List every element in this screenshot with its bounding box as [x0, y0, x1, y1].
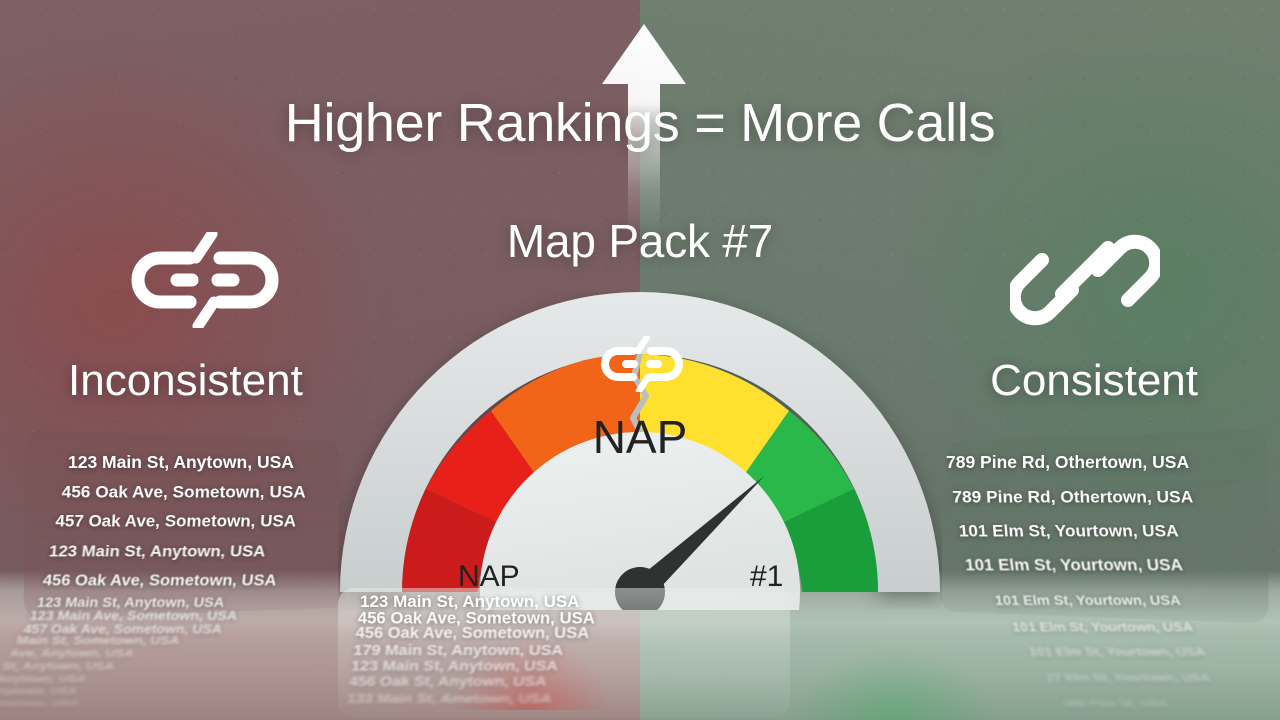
chain-link-icon	[1010, 232, 1160, 328]
address-line: 123 Main Ave, Sometown, USA	[29, 609, 238, 623]
address-line: 123 Main St, Anytown, USA	[68, 452, 294, 473]
address-line: Sometown, USA	[0, 698, 81, 708]
address-line: 457 Oak Ave, Sometown, USA	[55, 512, 297, 531]
infographic-canvas: Higher Rankings = More Calls Map Pack #7…	[0, 0, 1280, 720]
address-line: 133 Main St, Ametown, USA	[346, 692, 552, 707]
address-line: 789 Pine Rd, Othertown, USA	[946, 452, 1189, 473]
address-line: 101 Elm St, Yourtown, USA	[1011, 620, 1194, 634]
right-address-panel: 789 Pine Rd, Othertown, USA789 Pine Rd, …	[912, 428, 1272, 720]
address-line: 489 Pine St, USA	[1062, 698, 1169, 709]
address-line: 456 Oak Ave, Sometown, USA	[42, 572, 278, 590]
address-line: 456 Oak Ave, Sometown, USA	[355, 625, 589, 643]
left-state-label: Inconsistent	[68, 356, 303, 406]
address-line: 456 Oak St, Anytown, USA	[348, 675, 547, 690]
address-line: 456 Oak Ave, Sometown, USA	[61, 482, 306, 503]
address-line: 123 Main St, Anytown, USA	[48, 542, 266, 561]
gauge-broken-chain-icon	[600, 336, 684, 392]
address-line: Anytown, USA	[0, 673, 87, 685]
address-line: 101 Elm St, Yourtown, USA	[994, 594, 1182, 609]
left-address-panel: 123 Main St, Anytown, USA456 Oak Ave, So…	[10, 428, 360, 720]
broken-chain-icon	[130, 232, 280, 328]
address-line: Main St, Sometown, USA	[15, 634, 180, 647]
address-line: 789 Pine Rd, Othertown, USA	[952, 487, 1194, 508]
address-line: St, Anytown, USA	[2, 660, 116, 672]
gauge-center-label: NAP	[338, 410, 942, 464]
center-address-panel: 123 Main St, Anytown, USA456 Oak Ave, So…	[330, 588, 800, 720]
address-line: 101 Elm St, Yourtown, USA	[964, 556, 1184, 575]
address-line: 27 Elm St, Yourtown, USA	[1045, 672, 1211, 684]
address-line: 101 Elm St, Yourtown, USA	[1028, 646, 1207, 658]
ranking-gauge: NAP NAP #1	[338, 292, 942, 610]
address-line: Anytown, USA	[0, 685, 79, 696]
page-title: Higher Rankings = More Calls	[0, 92, 1280, 154]
right-state-label: Consistent	[990, 356, 1198, 406]
address-line: 123 Main St, Anytown, USA	[351, 659, 559, 675]
address-line: 179 Main St, Anytown, USA	[353, 642, 564, 659]
address-line: 101 Elm St, Yourtown, USA	[958, 521, 1179, 541]
address-line: Ave, Anytown, USA	[8, 647, 135, 659]
